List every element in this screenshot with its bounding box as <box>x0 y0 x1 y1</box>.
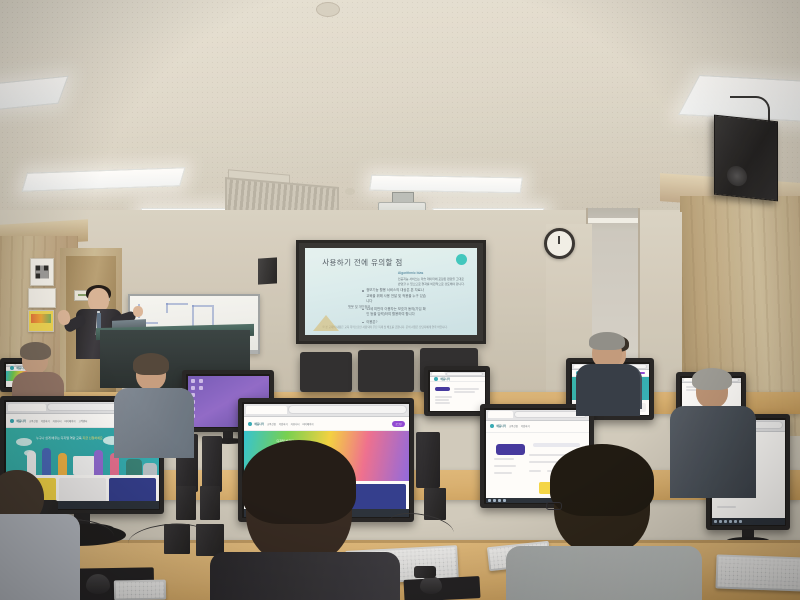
slide-accent-dot-icon <box>456 254 467 265</box>
ceiling-light <box>369 175 523 194</box>
nav-item[interactable]: 고객센터 <box>78 419 87 423</box>
slide-bullet: 정보기능 활용 서비스의 대상은 본 자료나 교육을 위해 사용 전달 및 적용… <box>362 288 427 304</box>
logo-icon <box>10 419 14 423</box>
wall-speaker-small-icon <box>258 257 277 284</box>
browser-tab[interactable] <box>8 404 47 411</box>
yellow-campaign-poster <box>28 310 54 332</box>
slide-bullet: 13세 미만의 이용자는 보호자 동의(가입 확인 등을 입력)하여 활용하여 … <box>362 307 427 318</box>
slide-right-column: Algorithmic bias 인공지능 서비스는 학습 데이터에 포함된 편… <box>398 271 467 286</box>
screen-reflection <box>313 315 339 331</box>
primary-button[interactable] <box>496 444 525 455</box>
nav-item[interactable]: 교육신청 <box>267 422 276 426</box>
browser-tab[interactable] <box>488 411 514 417</box>
website-view: 배움나라 <box>430 372 485 411</box>
monitor-back <box>358 350 414 392</box>
mouse[interactable] <box>86 574 110 594</box>
site-logo: 배움나라 <box>255 422 265 426</box>
login-button[interactable]: 로그인 <box>392 421 404 427</box>
glasses-icon <box>546 502 562 510</box>
browser-chrome[interactable] <box>244 404 409 417</box>
keyboard[interactable] <box>715 554 800 591</box>
site-logo: 배움나라 <box>17 419 27 423</box>
primary-button[interactable] <box>435 387 450 391</box>
site-logo: 배움나라 <box>497 424 507 428</box>
smoke-detector-icon <box>316 2 340 17</box>
wall-speaker-icon <box>714 115 778 202</box>
address-bar[interactable] <box>288 405 406 413</box>
nav-item[interactable]: 교육신청 <box>29 419 38 423</box>
site-logo: 배움나라 <box>441 377 451 381</box>
nav-item[interactable]: 학습하기 <box>521 424 530 428</box>
windows-taskbar[interactable] <box>712 518 785 524</box>
pc-tower <box>416 432 440 488</box>
hero-text: 누구나 쉽게 배우는 디지털 역량 교육 지금 신청하세요 <box>36 436 103 440</box>
classroom-photo-scene: 사용하기 전에 유의할 점 정보기능 활용 서비스의 대상은 본 자료나 교육을… <box>0 0 800 600</box>
numpad[interactable] <box>114 580 166 600</box>
desktop-speaker <box>200 486 220 520</box>
slide-footer-note: ※ 본 교재의 내용은 교육 목적으로만 사용되며 무단 복제 및 배포를 금합… <box>322 326 460 330</box>
logo-icon <box>490 424 494 428</box>
slide-right-heading: Algorithmic bias <box>398 271 467 275</box>
nav-item[interactable]: 학습하기 <box>279 422 288 426</box>
qr-code-icon <box>36 266 49 279</box>
monitor-back <box>300 352 352 392</box>
pc-tower <box>202 436 222 492</box>
nav-item[interactable]: 커뮤니티 <box>53 419 62 423</box>
projection-screen: 사용하기 전에 유의할 점 정보기능 활용 서비스의 대상은 본 자료나 교육을… <box>296 240 486 344</box>
nav-item[interactable]: 마이페이지 <box>64 419 75 423</box>
mouse-rest <box>414 566 436 578</box>
desk-edge <box>0 540 800 543</box>
qr-code-poster <box>30 258 54 286</box>
logo-icon <box>248 422 252 426</box>
smoke-detector-icon <box>345 188 355 195</box>
slide-bullet: 이용은? <box>362 320 427 325</box>
browser-tab[interactable] <box>246 406 288 414</box>
nav-item[interactable]: 학습하기 <box>41 419 50 423</box>
slide-subnote: 챗봇 및 개인정보 <box>348 304 370 309</box>
mousepad <box>403 576 480 600</box>
nav-item[interactable]: 교육신청 <box>509 424 518 428</box>
desktop-speaker <box>176 486 196 520</box>
wall-clock-icon <box>544 228 575 259</box>
browser-chrome[interactable] <box>486 410 589 421</box>
slide-right-text: 인공지능 서비스는 학습 데이터에 포함된 편향을 그대로 반영할 수 있으므로… <box>398 277 467 286</box>
nav-item[interactable]: 마이페이지 <box>302 422 313 426</box>
projected-slide: 사용하기 전에 유의할 점 정보기능 활용 서비스의 대상은 본 자료나 교육을… <box>305 248 477 335</box>
presenter-right-hand <box>133 306 143 317</box>
mouse[interactable] <box>420 576 442 594</box>
notice-poster <box>28 288 56 308</box>
slide-title: 사용하기 전에 유의할 점 <box>322 257 402 268</box>
site-navigation[interactable]: 배움나라 교육신청 학습하기 커뮤니티 마이페이지 로그인 <box>244 417 409 432</box>
site-navigation[interactable]: 배움나라 교육신청 학습하기 <box>486 421 589 433</box>
nav-item[interactable]: 커뮤니티 <box>291 422 300 426</box>
